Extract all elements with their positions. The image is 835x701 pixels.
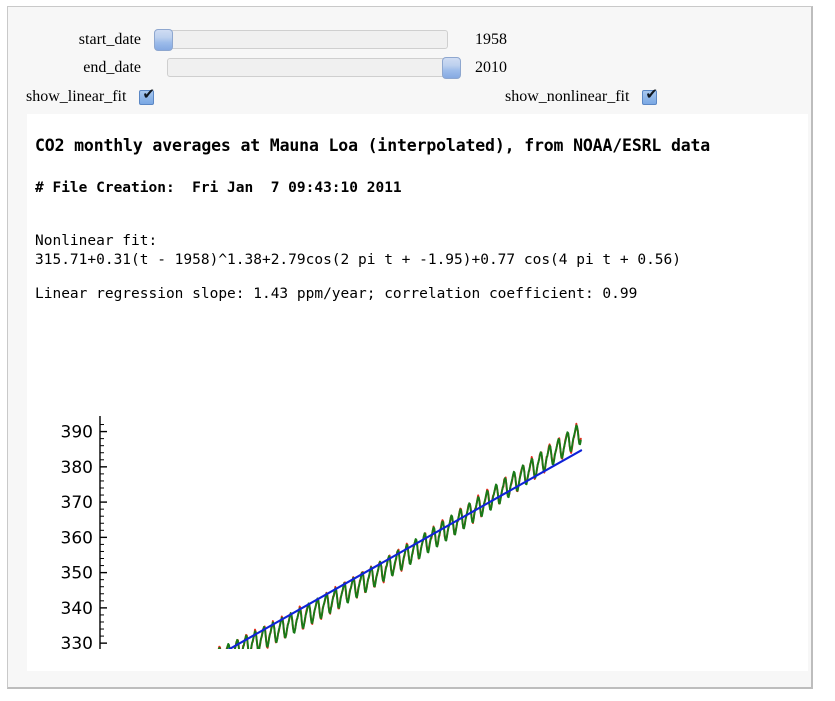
nonlinear-fit-formula: 315.71+0.31(t - 1958)^1.38+2.79cos(2 pi … [35, 251, 681, 270]
y-axis-tick-label: 350 [61, 564, 93, 584]
file-creation-line: # File Creation: Fri Jan 7 09:43:10 2011 [35, 180, 402, 196]
series-observed-data [111, 424, 581, 649]
start-date-value: 1958 [475, 29, 507, 51]
chart-canvas: 3103203303403503603703803901960197019801… [27, 309, 587, 649]
dataset-title: CO2 monthly averages at Mauna Loa (inter… [35, 136, 710, 155]
series-nonlinear-fit [111, 426, 581, 649]
nonlinear-fit-label: Nonlinear fit: [35, 232, 681, 251]
start-date-slider[interactable] [154, 30, 448, 49]
show-nonlinear-fit-label: show_nonlinear_fit [505, 87, 629, 107]
end-date-row: end_date 2010 [8, 55, 811, 81]
checkmark-icon: ✔ [645, 87, 657, 101]
end-date-slider[interactable] [167, 58, 460, 77]
series-linear-fit [111, 450, 581, 649]
y-axis-tick-label: 340 [61, 599, 93, 619]
y-axis-tick-label: 360 [61, 528, 93, 548]
y-axis-tick-label: 380 [61, 458, 93, 478]
checkmark-icon: ✔ [142, 87, 154, 101]
nonlinear-fit-block: Nonlinear fit: 315.71+0.31(t - 1958)^1.3… [35, 232, 681, 270]
start-date-label: start_date [8, 29, 141, 51]
show-linear-fit-group[interactable]: show_linear_fit ✔ [26, 87, 154, 109]
y-axis-tick-label: 370 [61, 493, 93, 513]
controls-panel: start_date 1958 end_date 2010 show_linea… [8, 7, 811, 106]
end-date-label: end_date [8, 57, 141, 79]
application-window: start_date 1958 end_date 2010 show_linea… [7, 6, 813, 689]
start-date-slider-thumb[interactable] [154, 29, 173, 51]
show-nonlinear-fit-group[interactable]: show_nonlinear_fit ✔ [505, 87, 657, 109]
y-axis-tick-label: 330 [61, 634, 93, 649]
output-panel: CO2 monthly averages at Mauna Loa (inter… [27, 114, 808, 671]
co2-timeseries-chart: 3103203303403503603703803901960197019801… [27, 309, 587, 649]
end-date-slider-thumb[interactable] [442, 57, 461, 79]
checkbox-row: show_linear_fit ✔ show_nonlinear_fit ✔ [8, 87, 811, 111]
show-linear-fit-checkbox[interactable]: ✔ [139, 90, 154, 105]
show-nonlinear-fit-checkbox[interactable]: ✔ [642, 90, 657, 105]
end-date-value: 2010 [475, 57, 507, 79]
start-date-row: start_date 1958 [8, 27, 811, 53]
y-axis-tick-label: 390 [61, 423, 93, 443]
show-linear-fit-label: show_linear_fit [26, 87, 126, 107]
linear-regression-summary: Linear regression slope: 1.43 ppm/year; … [35, 286, 637, 302]
